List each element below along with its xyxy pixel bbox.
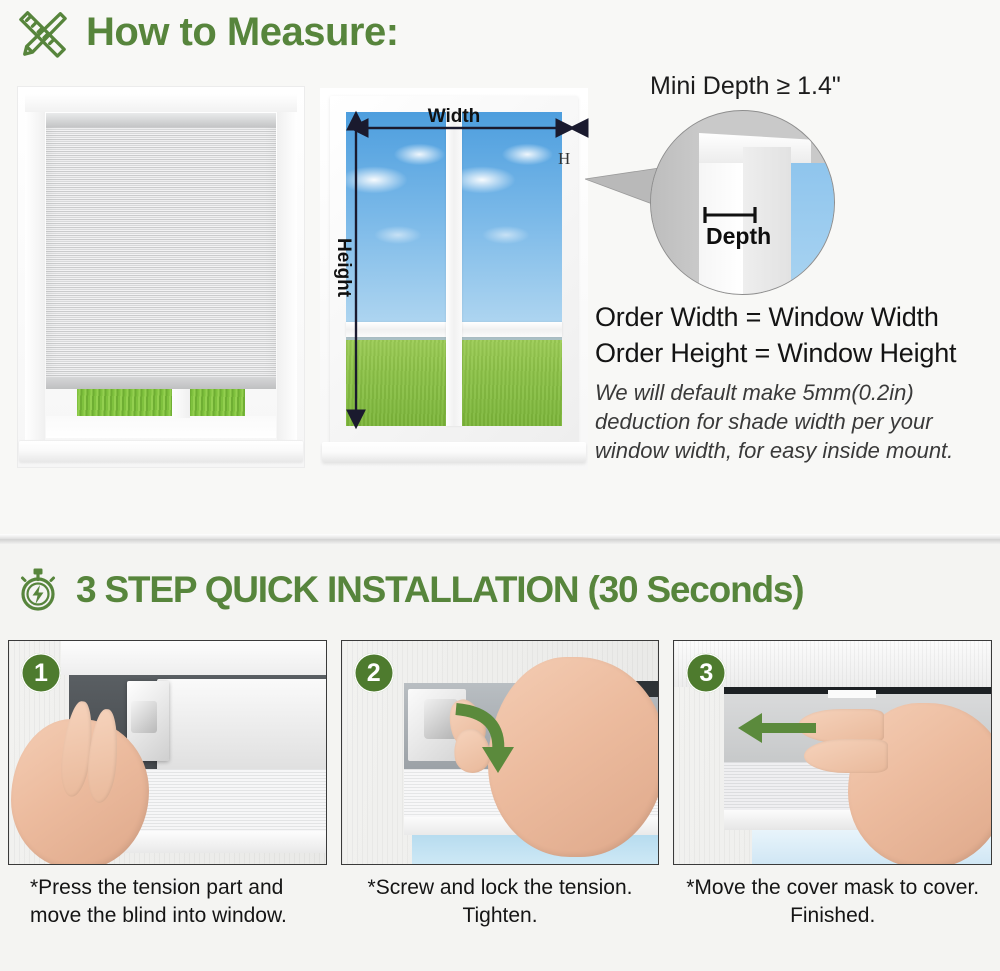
window-frame-top	[61, 641, 327, 675]
step-1-press-tension-photo: 1	[8, 640, 327, 865]
shade-headrail	[46, 113, 276, 127]
depth-label: Depth	[706, 223, 771, 250]
step-3-caption: *Move the cover mask to cover. Finished.	[673, 874, 992, 954]
step-badge: 1	[21, 653, 61, 693]
installation-title: 3 STEP QUICK INSTALLATION (30 Seconds)	[76, 569, 803, 611]
middle-finger	[804, 739, 888, 773]
how-to-measure-header: How to Measure:	[14, 6, 399, 58]
frame-top	[25, 94, 297, 112]
blind-headrail	[157, 679, 327, 775]
detail-outer-wall	[651, 111, 699, 294]
window-measurement-diagram: Width Height H	[320, 88, 588, 470]
installation-steps-row: 1 2	[8, 640, 992, 865]
shade-fabric	[119, 769, 327, 833]
order-rule-height: Order Height = Window Height	[595, 336, 995, 372]
width-dimension-label: Width	[320, 106, 588, 128]
height-marker-tick: H	[558, 149, 570, 169]
shade-bottomrail	[46, 377, 276, 389]
page-title: How to Measure:	[86, 10, 399, 55]
move-left-arrow-icon	[736, 711, 816, 745]
order-rules-block: Order Width = Window Width Order Height …	[595, 300, 995, 372]
shade-bottom-rail	[119, 831, 327, 853]
dimension-arrows	[320, 88, 588, 470]
step-badge: 2	[354, 653, 394, 693]
rotate-arrow-icon	[442, 699, 522, 779]
ruler-pencil-icon	[14, 6, 72, 58]
section-divider	[0, 534, 1000, 544]
frame-left	[25, 94, 45, 442]
deduction-note: We will default make 5mm(0.2in) deductio…	[595, 378, 997, 465]
how-to-measure-section: How to Measure:	[0, 0, 1000, 536]
depth-callout-group: Mini Depth ≥ 1.4" Depth Order Width = Wi…	[595, 60, 995, 480]
window-reveal	[46, 416, 276, 438]
installation-header: 3 STEP QUICK INSTALLATION (30 Seconds)	[14, 566, 803, 614]
step-3-move-cover-mask-photo: 3	[673, 640, 992, 865]
order-rule-width: Order Width = Window Width	[595, 300, 995, 336]
depth-detail-circle: Depth	[650, 110, 835, 295]
stopwatch-lightning-icon	[14, 566, 62, 614]
cellular-shade-product-photo	[17, 86, 305, 468]
step-2-caption: *Screw and lock the tension. Tighten.	[341, 874, 660, 954]
step-captions-row: *Press the tension part and move the bli…	[8, 874, 992, 954]
mini-depth-title: Mini Depth ≥ 1.4"	[650, 72, 841, 101]
tension-screw-head	[131, 701, 157, 733]
installation-section: 3 STEP QUICK INSTALLATION (30 Seconds) 1	[0, 544, 1000, 971]
step-2-screw-lock-photo: 2	[341, 640, 660, 865]
shade-pleats	[46, 113, 276, 381]
window-sill	[19, 440, 303, 462]
step-1-caption: *Press the tension part and move the bli…	[8, 874, 327, 954]
frame-right	[277, 94, 297, 442]
height-dimension-label: Height	[332, 238, 354, 297]
cover-mask	[828, 690, 876, 698]
